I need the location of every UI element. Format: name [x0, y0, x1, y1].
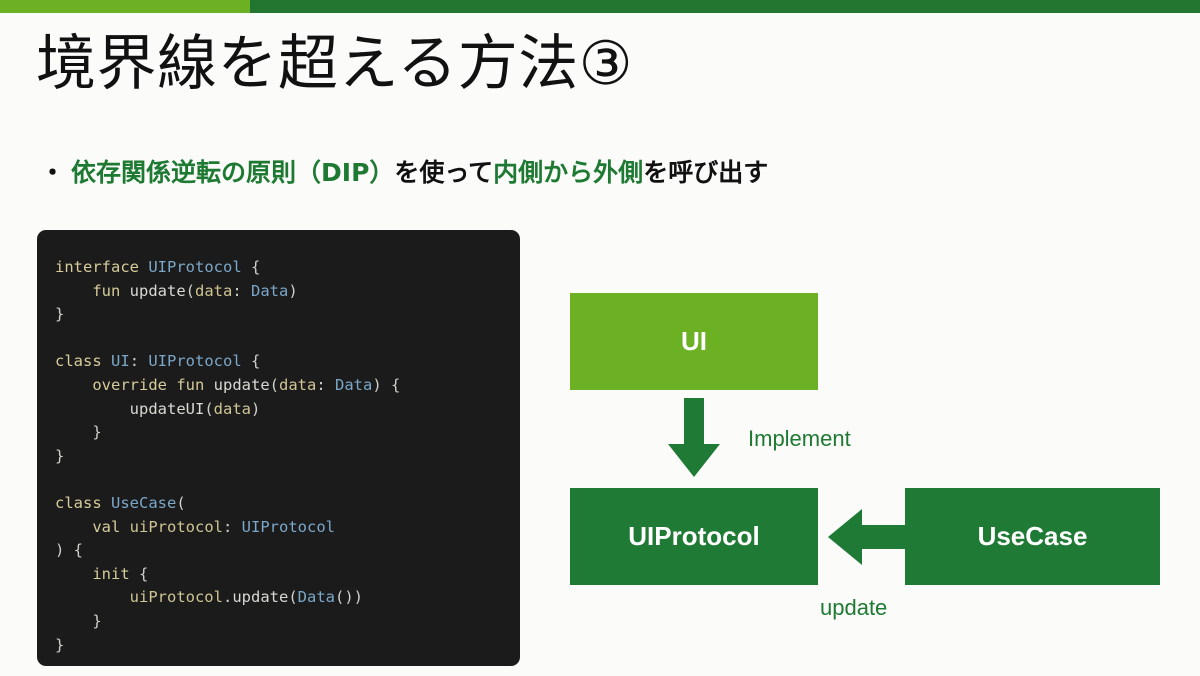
bullet-segment-yobidasu: を呼び出す: [643, 158, 768, 187]
bullet-segment-tsukatte: を使って: [394, 158, 493, 187]
accent-bar-left-segment: [0, 0, 250, 13]
arrow-left-update-icon: [828, 508, 906, 566]
dip-diagram: UI Implement UIProtocol update UseCase: [540, 240, 1200, 670]
top-accent-bar: [0, 0, 1200, 13]
arrow-down-implement-icon: [666, 398, 722, 478]
bullet-segment-inner-outer: 内側から外側: [493, 158, 643, 187]
diagram-box-ui: UI: [570, 293, 818, 390]
diagram-box-uiprotocol-label: UIProtocol: [628, 521, 759, 552]
arrow-label-implement: Implement: [748, 426, 851, 452]
bullet-marker-icon: ・: [40, 158, 65, 187]
bullet-segment-dip: 依存関係逆転の原則（DIP）: [71, 158, 394, 187]
bullet-line: ・依存関係逆転の原則（DIP）を使って内側から外側を呼び出す: [40, 155, 768, 190]
arrow-label-update: update: [820, 595, 887, 621]
diagram-box-usecase-label: UseCase: [978, 521, 1088, 552]
code-text: interface UIProtocol { fun update(data: …: [55, 256, 502, 657]
accent-bar-right-segment: [250, 0, 1200, 13]
diagram-box-usecase: UseCase: [905, 488, 1160, 585]
page-title: 境界線を超える方法③: [36, 27, 633, 102]
diagram-box-ui-label: UI: [681, 326, 707, 357]
diagram-box-uiprotocol: UIProtocol: [570, 488, 818, 585]
code-block: interface UIProtocol { fun update(data: …: [37, 230, 520, 666]
